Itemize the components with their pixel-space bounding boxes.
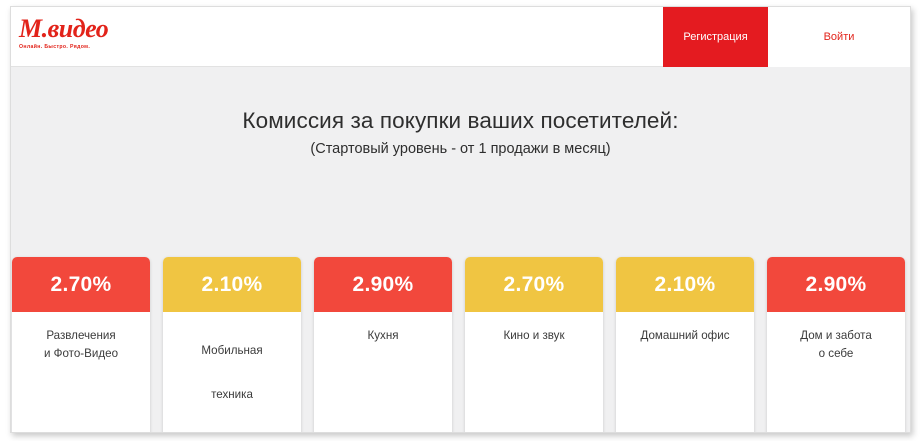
card-label: Развлеченияи Фото-Видео: [12, 312, 150, 433]
card-rate: 2.70%: [465, 257, 603, 312]
page-frame: М.видео Онлайн. Быстро. Рядом. Регистрац…: [10, 6, 911, 433]
register-button[interactable]: Регистрация: [663, 7, 768, 67]
card-label: Кухня: [314, 312, 452, 433]
card-label: Кино и звук: [465, 312, 603, 433]
card-label: Дом и заботао себе: [767, 312, 905, 433]
screenshot-root: М.видео Онлайн. Быстро. Рядом. Регистрац…: [0, 0, 920, 441]
logo-wordmark: М.видео: [19, 15, 169, 43]
title-section: Комиссия за покупки ваших посетителей: (…: [11, 67, 910, 159]
card-rate: 2.10%: [616, 257, 754, 312]
card-rate: 2.70%: [12, 257, 150, 312]
card-rate: 2.90%: [314, 257, 452, 312]
commission-card[interactable]: 2.10%Домашний офис: [616, 257, 754, 433]
card-label: Мобильнаятехника: [163, 312, 301, 433]
card-rate: 2.10%: [163, 257, 301, 312]
page-subtitle: (Стартовый уровень - от 1 продажи в меся…: [11, 140, 910, 159]
commission-card[interactable]: 2.10%Мобильнаятехника: [163, 257, 301, 433]
header-actions: Регистрация Войти: [663, 7, 910, 67]
card-rate: 2.90%: [767, 257, 905, 312]
logo-tagline: Онлайн. Быстро. Рядом.: [19, 44, 169, 51]
site-logo[interactable]: М.видео Онлайн. Быстро. Рядом.: [19, 15, 169, 59]
card-label: Домашний офис: [616, 312, 754, 433]
site-header: М.видео Онлайн. Быстро. Рядом. Регистрац…: [11, 7, 910, 67]
commission-card[interactable]: 2.70%Развлеченияи Фото-Видео: [12, 257, 150, 433]
commission-cards: 2.70%Развлеченияи Фото-Видео2.10%Мобильн…: [11, 257, 910, 433]
main-content: Комиссия за покупки ваших посетителей: (…: [11, 67, 910, 433]
login-button[interactable]: Войти: [768, 7, 910, 67]
commission-card[interactable]: 2.90%Дом и заботао себе: [767, 257, 905, 433]
commission-card[interactable]: 2.70%Кино и звук: [465, 257, 603, 433]
page-title: Комиссия за покупки ваших посетителей:: [11, 107, 910, 135]
commission-card[interactable]: 2.90%Кухня: [314, 257, 452, 433]
